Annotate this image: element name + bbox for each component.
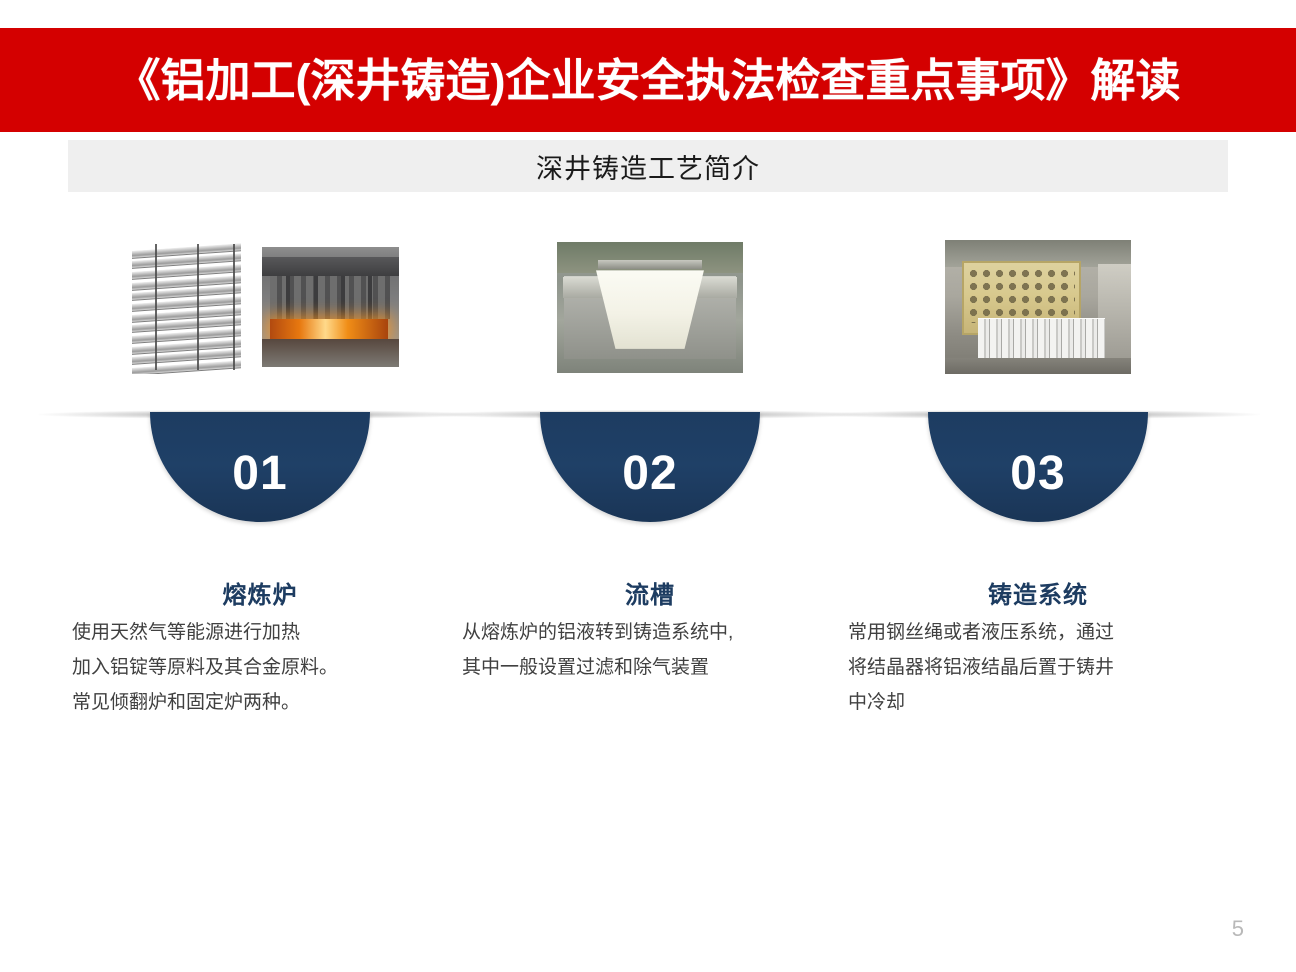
- step-03-badge-zone: 03: [828, 392, 1248, 522]
- step-03-body-line-1: 常用钢丝绳或者液压系统，通过: [848, 615, 1268, 650]
- ingot-stack-art: [122, 241, 252, 374]
- step-number-label: 03: [1010, 446, 1065, 501]
- step-02-heading: 流槽: [440, 575, 860, 610]
- step-02-body: 从熔炼炉的铝液转到铸造系统中, 其中一般设置过滤和除气装置: [462, 615, 882, 685]
- step-02-badge-zone: 02: [440, 392, 860, 522]
- casting-system-art: [945, 240, 1131, 374]
- melting-furnace-photo: [262, 247, 399, 367]
- step-number-label: 02: [622, 446, 677, 501]
- section-subtitle: 深井铸造工艺简介: [536, 147, 760, 186]
- step-number-badge-02: 02: [540, 412, 760, 522]
- slide-root: 《铝加工(深井铸造)企业安全执法检查重点事项》解读 深井铸造工艺简介: [0, 0, 1296, 972]
- step-01-badge-zone: 01: [50, 392, 470, 522]
- step-02-body-line-1: 从熔炼炉的铝液转到铸造系统中,: [462, 615, 882, 650]
- step-02-photo-row: [440, 232, 860, 382]
- step-03-heading: 铸造系统: [828, 575, 1248, 610]
- step-01-body-line-2: 加入铝锭等原料及其合金原料。: [72, 650, 492, 685]
- aluminum-ingot-stack-photo: [122, 241, 252, 374]
- slide-title-band: 《铝加工(深井铸造)企业安全执法检查重点事项》解读: [0, 28, 1296, 132]
- step-number-label: 01: [232, 446, 287, 501]
- step-number-badge-03: 03: [928, 412, 1148, 522]
- page-title: 《铝加工(深井铸造)企业安全执法检查重点事项》解读: [116, 58, 1181, 103]
- step-01-body-line-1: 使用天然气等能源进行加热: [72, 615, 492, 650]
- launder-trough-art: [557, 242, 743, 373]
- step-03-body-line-2: 将结晶器将铝液结晶后置于铸井: [848, 650, 1268, 685]
- melting-furnace-art: [262, 247, 399, 367]
- step-03-body: 常用钢丝绳或者液压系统，通过 将结晶器将铝液结晶后置于铸井 中冷却: [848, 615, 1268, 720]
- process-steps-container: 01 熔炼炉 使用天然气等能源进行加热 加入铝锭等原料及其合金原料。 常见倾翻炉…: [0, 210, 1296, 830]
- step-01-photo-row: [50, 232, 470, 382]
- launder-trough-photo: [557, 242, 743, 373]
- step-01-body-line-3: 常见倾翻炉和固定炉两种。: [72, 685, 492, 720]
- casting-system-photo: [945, 240, 1131, 374]
- step-01-heading: 熔炼炉: [50, 575, 470, 610]
- step-03-body-line-3: 中冷却: [848, 685, 1268, 720]
- page-number: 5: [1232, 916, 1244, 942]
- step-02-body-line-2: 其中一般设置过滤和除气装置: [462, 650, 882, 685]
- step-number-badge-01: 01: [150, 412, 370, 522]
- step-03-photo-row: [828, 232, 1248, 382]
- step-01-body: 使用天然气等能源进行加热 加入铝锭等原料及其合金原料。 常见倾翻炉和固定炉两种。: [72, 615, 492, 720]
- section-subtitle-bar: 深井铸造工艺简介: [68, 140, 1228, 192]
